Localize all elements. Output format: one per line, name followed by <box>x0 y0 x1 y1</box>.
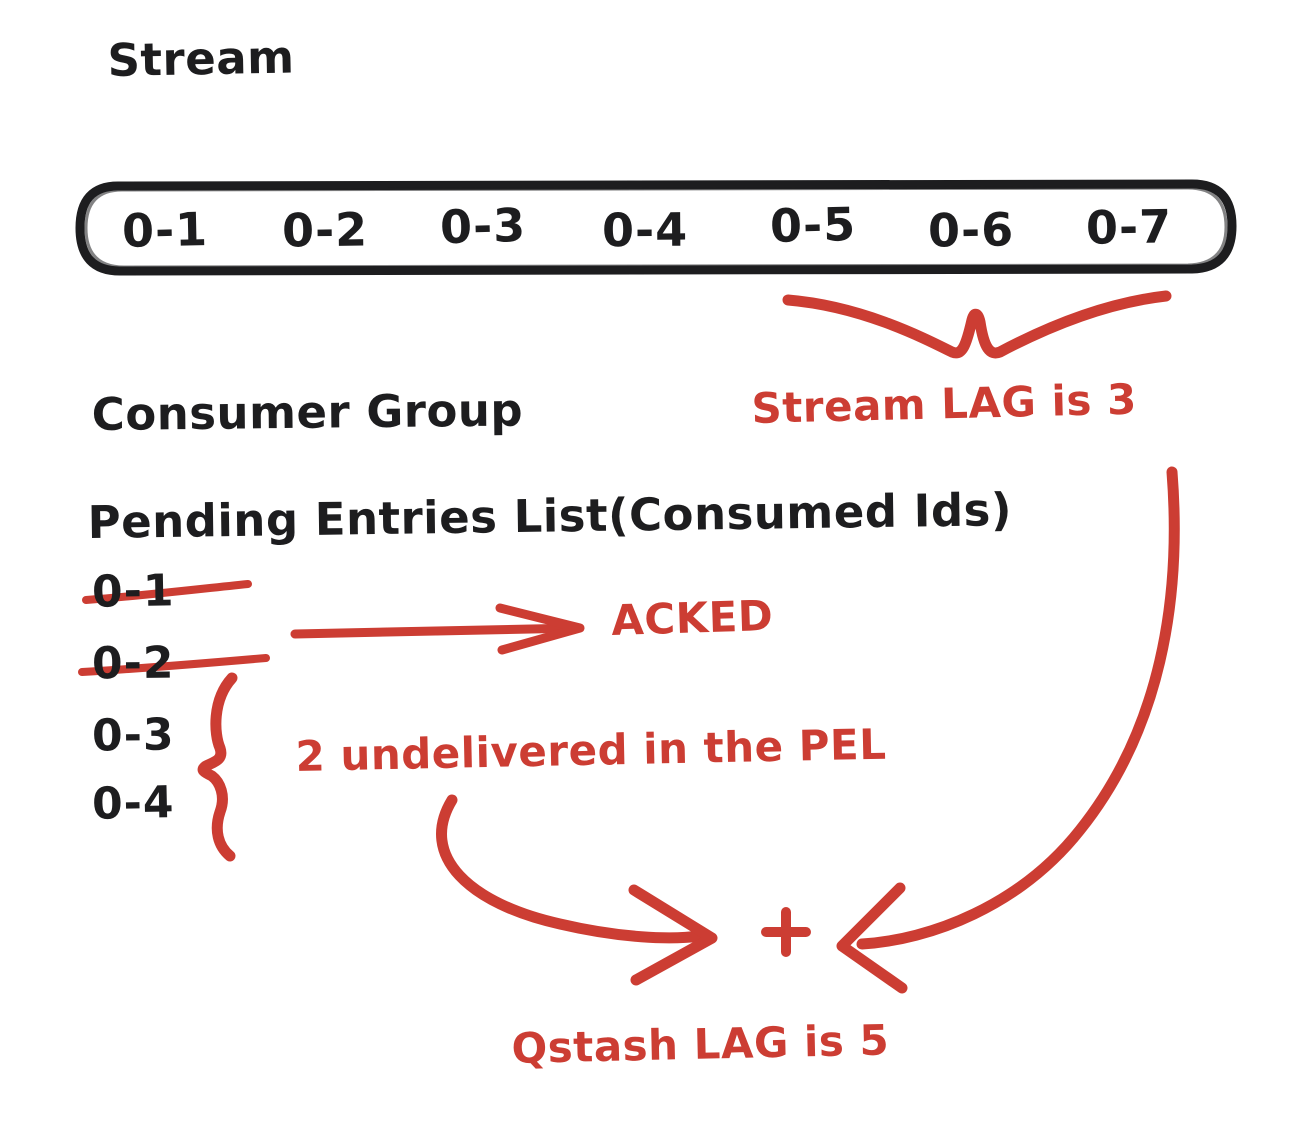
stream-title: Stream <box>107 34 295 83</box>
acked-arrow-shaft <box>295 628 578 634</box>
pending-entries-list-title: Pending Entries List(Consumed Ids) <box>87 487 1012 545</box>
stream-entry-id: 0-6 <box>928 202 1015 257</box>
stream-entry-id: 0-7 <box>1086 199 1173 254</box>
pel-entry-id-acked: 0-2 <box>92 638 175 690</box>
stream-entry-id: 0-1 <box>121 202 208 258</box>
acked-arrow-head <box>500 608 580 650</box>
plus-sign-glyph <box>766 912 806 952</box>
stream-entry-id: 0-2 <box>282 202 369 257</box>
qstash-lag-annotation: Qstash LAG is 5 <box>511 1019 890 1070</box>
annotation-layer <box>0 0 1294 1142</box>
stream-lag-to-plus-arrow-head <box>842 888 902 988</box>
stream-lag-to-plus-arrow-shaft <box>862 472 1174 944</box>
pel-entry-id-acked: 0-1 <box>92 565 175 617</box>
consumer-group-title: Consumer Group <box>92 387 524 437</box>
stream-entry-id: 0-3 <box>439 198 527 254</box>
undelivered-brace <box>203 678 232 856</box>
stream-entry-id: 0-5 <box>769 197 856 253</box>
pel-entry-id-pending: 0-4 <box>91 777 175 830</box>
undelivered-annotation: 2 undelivered in the PEL <box>295 724 887 778</box>
undelivered-to-plus-arrow-shaft <box>442 800 700 938</box>
stream-lag-brace <box>788 296 1166 353</box>
stream-lag-annotation: Stream LAG is 3 <box>751 379 1137 430</box>
pel-entry-id-pending: 0-3 <box>92 709 175 761</box>
stream-box-layer <box>0 0 1294 1142</box>
stream-entry-id: 0-4 <box>602 203 688 258</box>
diagram-canvas: Stream Consumer Group Pending Entries Li… <box>0 0 1294 1142</box>
undelivered-to-plus-arrow-head <box>634 890 712 980</box>
acked-annotation: ACKED <box>611 595 774 642</box>
